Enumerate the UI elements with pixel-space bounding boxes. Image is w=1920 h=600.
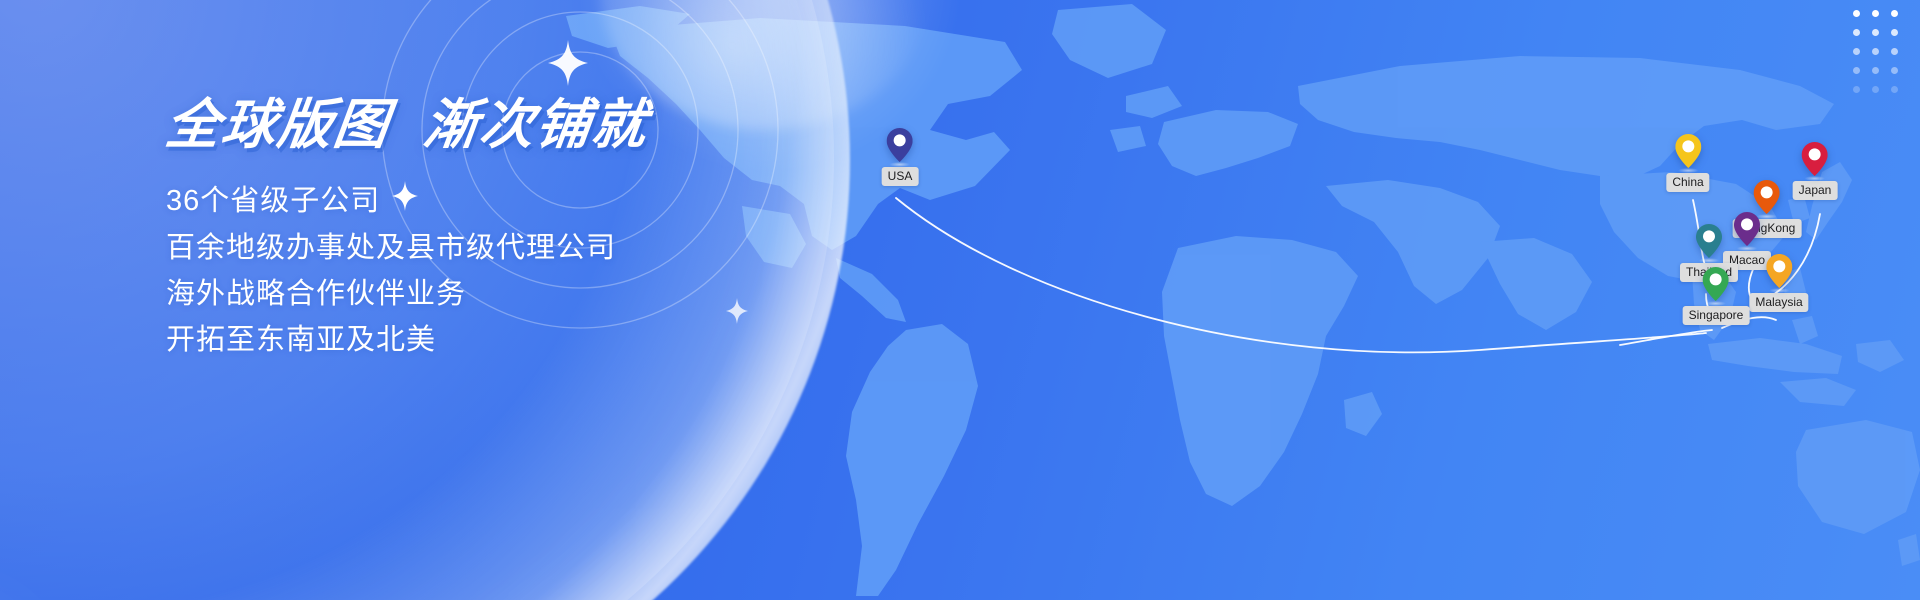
- map-marker-label: Singapore: [1683, 306, 1750, 325]
- location-pin-icon: [1696, 224, 1722, 258]
- map-marker-label: USA: [882, 167, 919, 186]
- pin-shadow: [1678, 168, 1698, 173]
- location-pin-icon: [887, 128, 913, 162]
- location-pin-icon: [1675, 134, 1701, 168]
- location-pin-icon: [1766, 254, 1792, 288]
- map-marker-malaysia[interactable]: Malaysia: [1749, 254, 1808, 312]
- pin-shadow: [1769, 288, 1789, 293]
- pin-shadow: [1699, 258, 1719, 263]
- global-map-banner: 全球版图渐次铺就 36个省级子公司 百余地级办事处及县市级代理公司 海外战略合作…: [0, 0, 1920, 600]
- route-lines: [0, 0, 1920, 600]
- pin-shadow: [1737, 246, 1757, 251]
- map-marker-label: Malaysia: [1749, 293, 1808, 312]
- route-path: [896, 198, 1706, 352]
- map-marker-china[interactable]: China: [1666, 134, 1709, 192]
- location-pin-icon: [1703, 267, 1729, 301]
- map-marker-singapore[interactable]: Singapore: [1683, 267, 1750, 325]
- map-marker-usa[interactable]: USA: [882, 128, 919, 186]
- location-pin-icon: [1754, 180, 1780, 214]
- location-pin-icon: [1802, 142, 1828, 176]
- route-path: [1620, 330, 1712, 345]
- pin-shadow: [1706, 301, 1726, 306]
- map-marker-label: China: [1666, 173, 1709, 192]
- pin-shadow: [1805, 176, 1825, 181]
- pin-shadow: [890, 162, 910, 167]
